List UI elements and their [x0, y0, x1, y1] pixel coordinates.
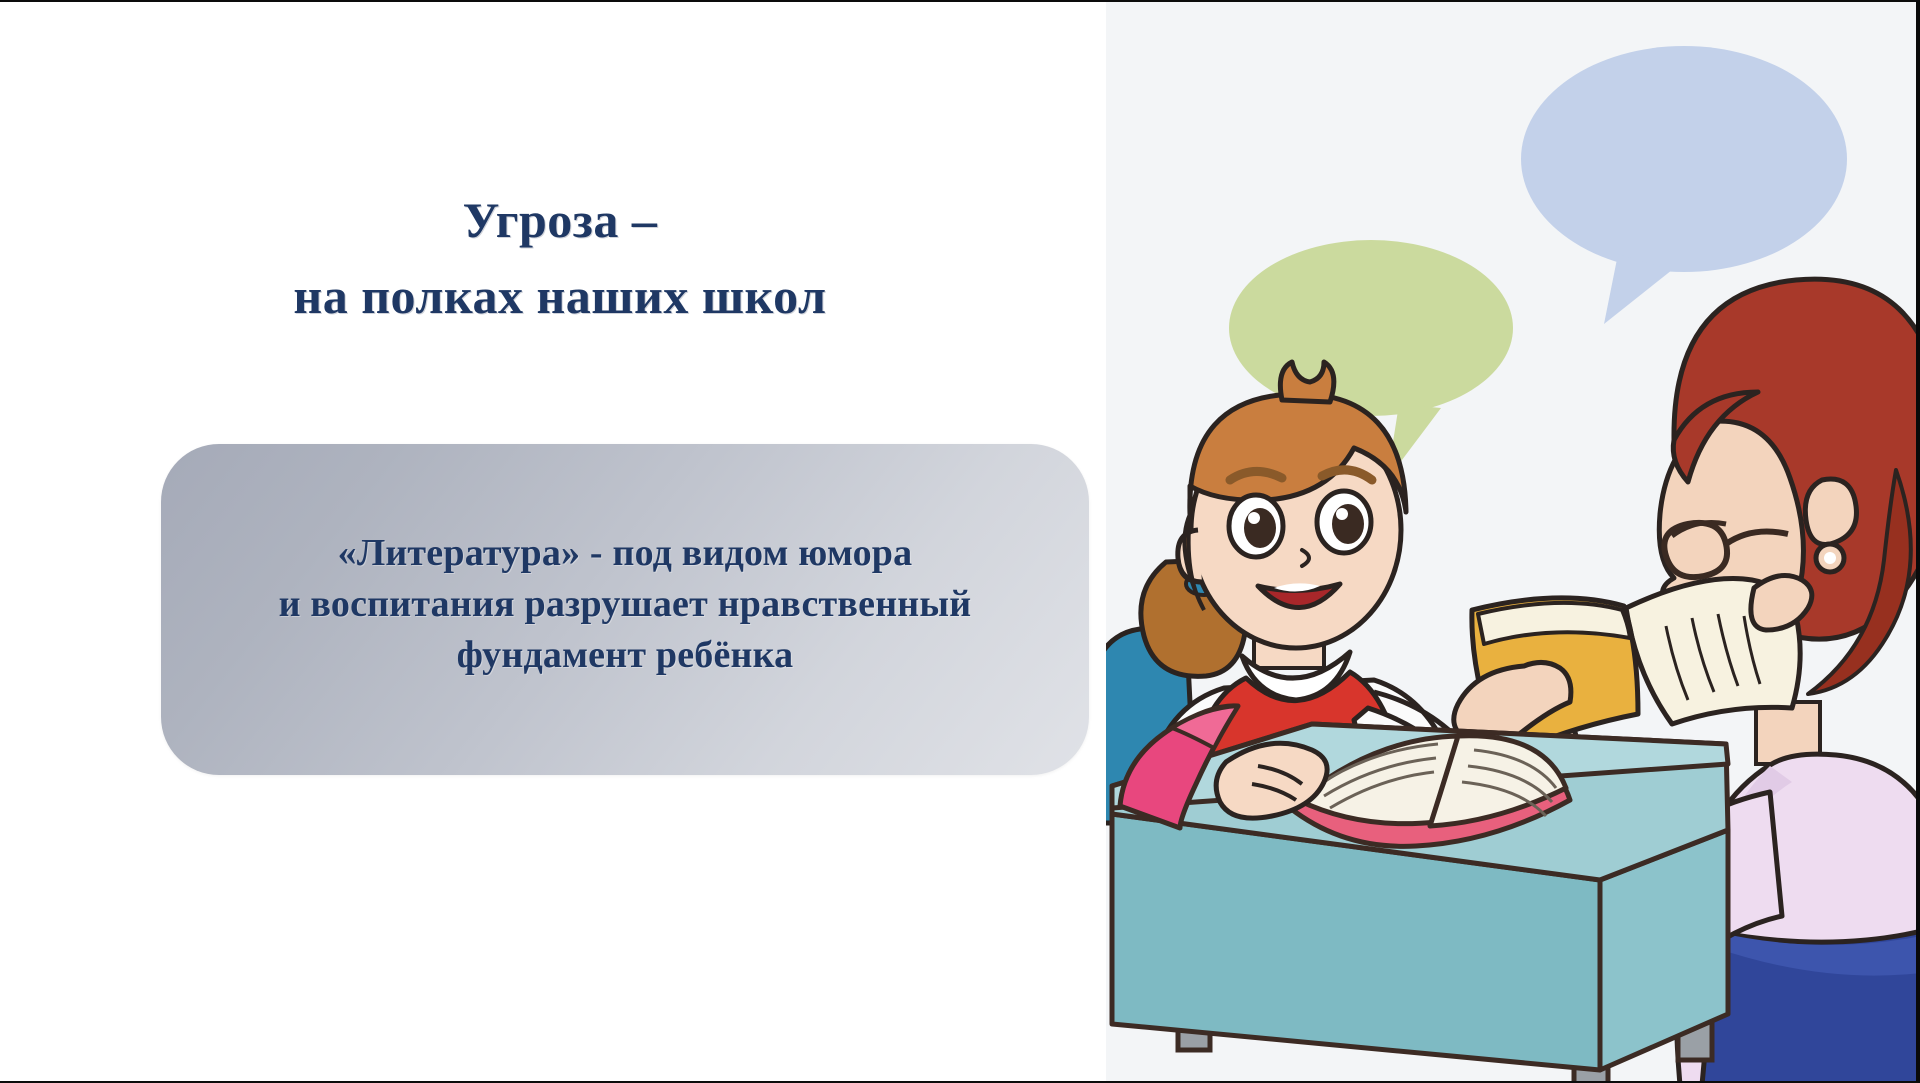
slide-root: Угроза – на полках наших школ «Литератур…	[0, 0, 1920, 1083]
page-title: Угроза – на полках наших школ	[150, 182, 970, 334]
callout-text: «Литература» - под видом юмора и воспита…	[161, 528, 1089, 681]
callout-line-2: и воспитания разрушает нравственный	[195, 579, 1055, 630]
title-line-2: на полках наших школ	[150, 258, 970, 334]
text-column: Угроза – на полках наших школ «Литератур…	[0, 2, 1106, 1083]
callout-box: «Литература» - под видом юмора и воспита…	[161, 444, 1089, 775]
callout-line-1: «Литература» - под видом юмора	[195, 528, 1055, 579]
desk	[1112, 706, 1728, 1083]
classroom-illustration	[1106, 2, 1916, 1083]
illustration-panel	[1106, 2, 1916, 1083]
title-line-1: Угроза –	[150, 182, 970, 258]
callout-line-3: фундамент ребёнка	[195, 630, 1055, 681]
